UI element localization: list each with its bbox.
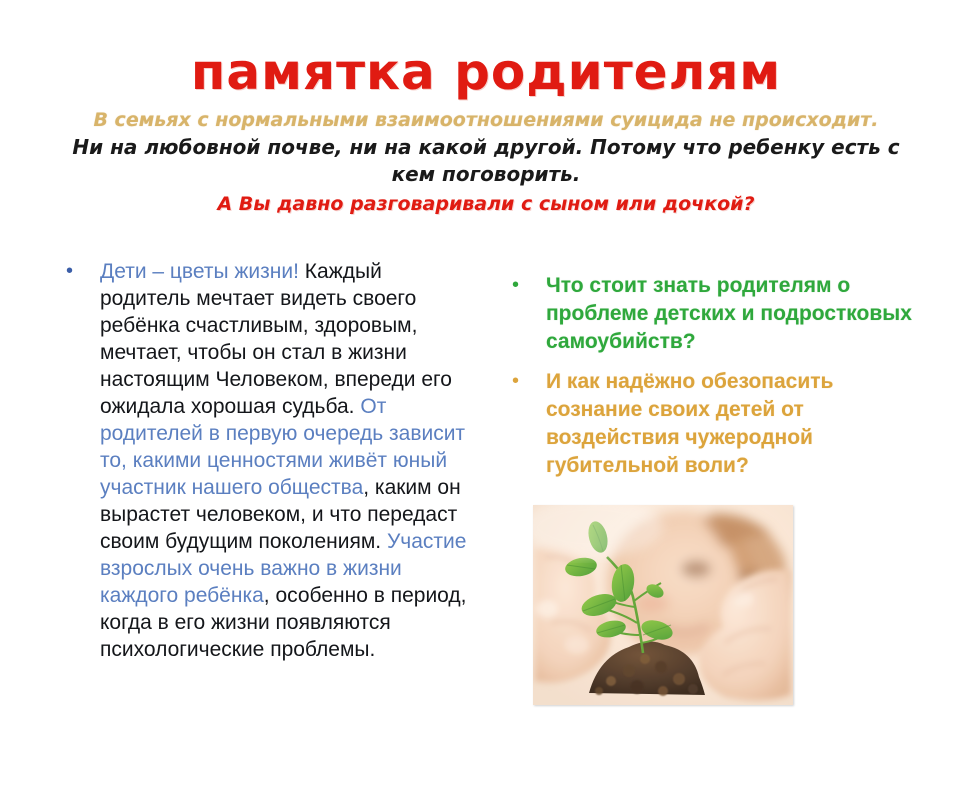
subtitle-line-2: Ни на любовной почве, ни на какой другой… <box>71 134 901 188</box>
left-paragraph: Дети – цветы жизни! Каждый родитель мечт… <box>100 258 474 663</box>
slide-root: памятка родителям В семьях с нормальными… <box>0 0 972 800</box>
page-title: памятка родителям <box>0 44 972 100</box>
subtitle-line-3: А Вы давно разговаривали с сыном или доч… <box>0 191 972 217</box>
subtitle-line-1: В семьях с нормальными взаимоотношениями… <box>0 107 972 133</box>
list-item: • И как надёжно обезопасить сознание сво… <box>508 368 928 480</box>
seedling-photo-illustration <box>533 505 793 705</box>
list-item: • Дети – цветы жизни! Каждый родитель ме… <box>62 258 474 663</box>
seedling-in-hands-photo <box>533 505 793 705</box>
left-text-part-1: Каждый родитель мечтает видеть своего ре… <box>100 260 452 418</box>
bullet-dot-icon: • <box>62 258 100 285</box>
bullet-dot-icon: • <box>508 272 546 299</box>
slide-header: памятка родителям В семьях с нормальными… <box>0 44 972 217</box>
left-text-column: • Дети – цветы жизни! Каждый родитель ме… <box>62 258 474 663</box>
right-item-body-1: Что стоит знать родителям о проблеме дет… <box>546 272 928 356</box>
list-item: • Что стоит знать родителям о проблеме д… <box>508 272 928 356</box>
left-paragraph-body: Дети – цветы жизни! Каждый родитель мечт… <box>100 258 474 663</box>
right-item-body-2: И как надёжно обезопасить сознание своих… <box>546 368 928 480</box>
right-question-1: Что стоит знать родителям о проблеме дет… <box>546 272 928 356</box>
bullet-dot-icon: • <box>508 368 546 395</box>
right-question-2: И как надёжно обезопасить сознание своих… <box>546 368 928 480</box>
left-lead-phrase: Дети – цветы жизни! <box>100 260 299 283</box>
right-text-column: • Что стоит знать родителям о проблеме д… <box>508 272 928 480</box>
